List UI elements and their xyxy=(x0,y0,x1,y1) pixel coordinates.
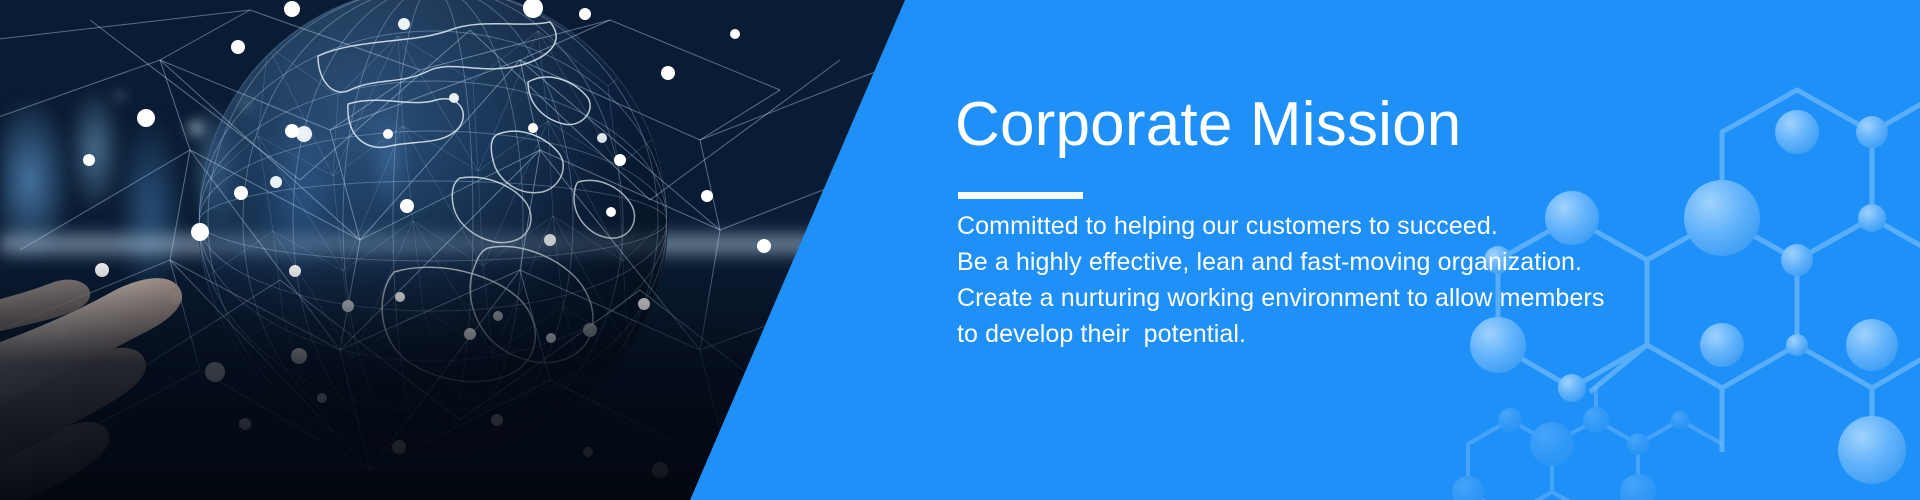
mission-line: to develop their potential. xyxy=(957,316,1697,352)
foreground-shadow xyxy=(0,250,960,500)
page-title: Corporate Mission xyxy=(955,92,1461,158)
mission-line: Create a nurturing working environment t… xyxy=(957,280,1697,316)
hero-photo-panel xyxy=(0,0,960,500)
mission-content: Corporate Mission Committed to helping o… xyxy=(955,0,1855,500)
mission-line: Committed to helping our customers to su… xyxy=(957,208,1697,244)
corporate-mission-banner: Corporate Mission Committed to helping o… xyxy=(0,0,1920,500)
mission-statement-list: Committed to helping our customers to su… xyxy=(957,208,1697,352)
title-divider xyxy=(958,192,1083,199)
mission-line: Be a highly effective, lean and fast-mov… xyxy=(957,244,1697,280)
